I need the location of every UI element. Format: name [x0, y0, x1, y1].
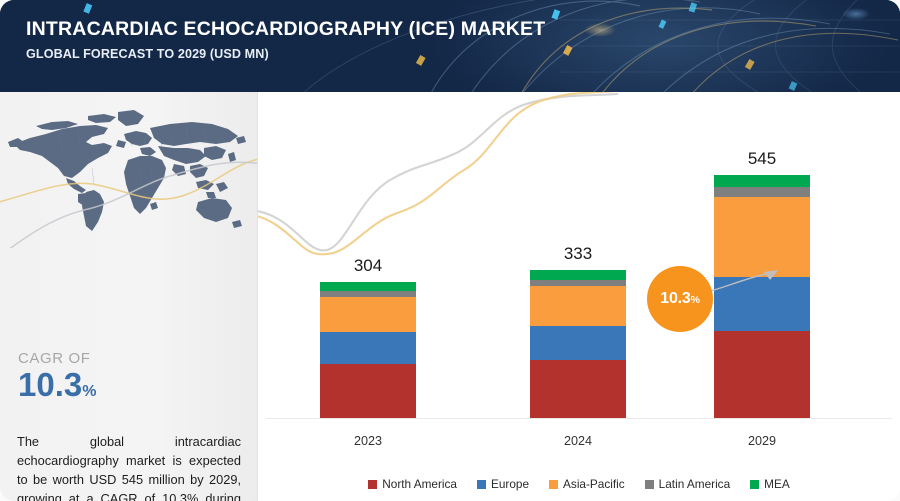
bar-segment-mea[interactable] [530, 270, 626, 280]
bar-total-label: 333 [530, 244, 626, 264]
bar-segment-latin-america[interactable] [714, 187, 810, 197]
bar-segment-asia-pacific[interactable] [320, 297, 416, 332]
page-subtitle: GLOBAL FORECAST TO 2029 (USD MN) [26, 47, 545, 61]
cagr-bubble-unit: % [691, 294, 700, 306]
x-axis-label: 2023 [320, 434, 416, 448]
legend-swatch-icon [477, 480, 486, 489]
cagr-bubble-value: 10.3 [660, 290, 690, 307]
infographic-page: INTRACARDIAC ECHOCARDIOGRAPHY (ICE) MARK… [0, 0, 900, 501]
legend-label: Asia-Pacific [563, 477, 625, 491]
x-axis-label: 2024 [530, 434, 626, 448]
stacked-bar[interactable] [320, 282, 416, 418]
cagr-block: CAGR OF 10.3% [18, 350, 96, 402]
legend-item-mea[interactable]: MEA [750, 477, 790, 491]
legend-swatch-icon [750, 480, 759, 489]
bar-segment-north-america[interactable] [320, 364, 416, 418]
bar-segment-asia-pacific[interactable] [530, 286, 626, 326]
bar-segment-mea[interactable] [320, 282, 416, 291]
bar-segment-europe[interactable] [320, 332, 416, 364]
bar-group-2024[interactable]: 333 2024 [530, 270, 626, 418]
x-axis-label: 2029 [714, 434, 810, 448]
page-title: INTRACARDIAC ECHOCARDIOGRAPHY (ICE) MARK… [26, 18, 545, 41]
bar-segment-mea[interactable] [714, 175, 810, 187]
stacked-bar[interactable] [530, 270, 626, 418]
legend-item-europe[interactable]: Europe [477, 477, 529, 491]
summary-paragraph: The global intracardiac echocardiography… [17, 432, 241, 501]
bar-segment-north-america[interactable] [530, 360, 626, 418]
legend-label: MEA [764, 477, 790, 491]
cagr-bubble-text: 10.3% [660, 290, 699, 308]
legend-label: Latin America [659, 477, 730, 491]
bar-total-label: 545 [714, 149, 810, 169]
legend-swatch-icon [368, 480, 377, 489]
world-map-icon [0, 98, 258, 248]
cagr-label: CAGR OF [18, 350, 96, 367]
legend-label: Europe [491, 477, 529, 491]
chart-legend: North AmericaEuropeAsia-PacificLatin Ame… [258, 477, 900, 491]
legend-label: North America [382, 477, 457, 491]
legend-swatch-icon [645, 480, 654, 489]
legend-swatch-icon [549, 480, 558, 489]
header-banner: INTRACARDIAC ECHOCARDIOGRAPHY (ICE) MARK… [0, 0, 900, 92]
cagr-percent-sign: % [82, 383, 96, 400]
legend-item-latin-america[interactable]: Latin America [645, 477, 730, 491]
cagr-number: 10.3 [18, 366, 82, 403]
x-axis-line [266, 418, 892, 419]
cagr-value: 10.3% [18, 368, 96, 402]
chart-panel: 304 2023 333 2024 545 2029 10.3% [258, 92, 900, 501]
bar-group-2023[interactable]: 304 2023 [320, 282, 416, 418]
world-map-container [0, 98, 258, 248]
plot-area: 304 2023 333 2024 545 2029 10.3% [258, 92, 900, 501]
bar-segment-north-america[interactable] [714, 331, 810, 418]
legend-item-north-america[interactable]: North America [368, 477, 457, 491]
header-text-block: INTRACARDIAC ECHOCARDIOGRAPHY (ICE) MARK… [26, 18, 545, 61]
bar-total-label: 304 [320, 256, 416, 276]
legend-item-asia-pacific[interactable]: Asia-Pacific [549, 477, 625, 491]
cagr-bubble[interactable]: 10.3% [647, 266, 713, 332]
bar-segment-europe[interactable] [530, 326, 626, 361]
sidebar-panel: CAGR OF 10.3% The global intracardiac ec… [0, 92, 258, 501]
